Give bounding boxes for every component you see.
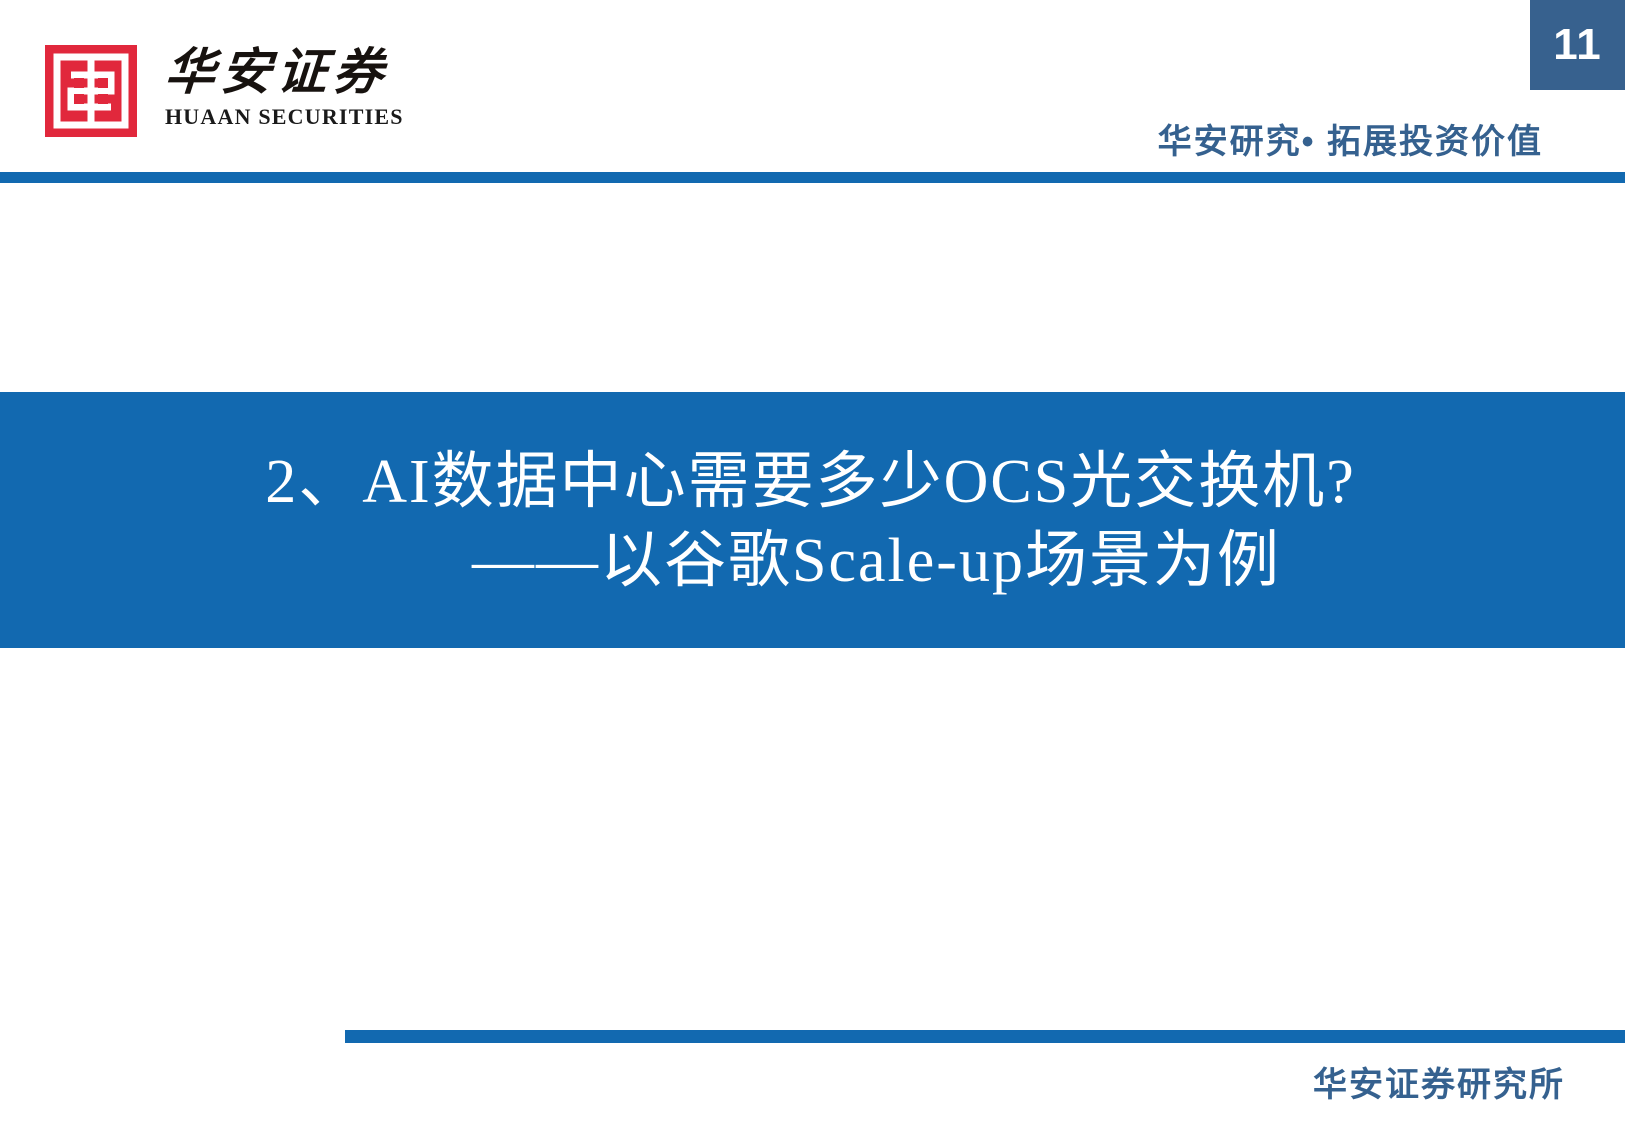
section-title-banner: 2、AI数据中心需要多少OCS光交换机? ——以谷歌Scale-up场景为例: [0, 392, 1625, 648]
brand-wordmark-en: HUAAN SECURITIES: [165, 104, 404, 130]
huaan-emblem-icon: [45, 45, 137, 137]
brand-wordmark: 华安证券 HUAAN SECURITIES: [165, 45, 404, 130]
footer-text: 华安证券研究所: [1313, 1057, 1565, 1106]
header-tagline: 华安研究• 拓展投资价值: [1158, 114, 1543, 163]
section-title-line-1: 2、AI数据中心需要多少OCS光交换机?: [0, 443, 1625, 522]
slide-canvas: 华安证券 HUAAN SECURITIES 11 华安研究• 拓展投资价值 2、…: [0, 0, 1625, 1125]
footer-divider: [345, 1030, 1625, 1043]
slide-header: 华安证券 HUAAN SECURITIES 11 华安研究• 拓展投资价值: [0, 0, 1625, 182]
brand-wordmark-cn: 华安证券: [163, 47, 405, 98]
page-number-badge: 11: [1530, 0, 1625, 90]
brand-logo: 华安证券 HUAAN SECURITIES: [45, 45, 404, 137]
header-divider: [0, 172, 1625, 183]
section-title-line-2: ——以谷歌Scale-up场景为例: [0, 522, 1625, 601]
